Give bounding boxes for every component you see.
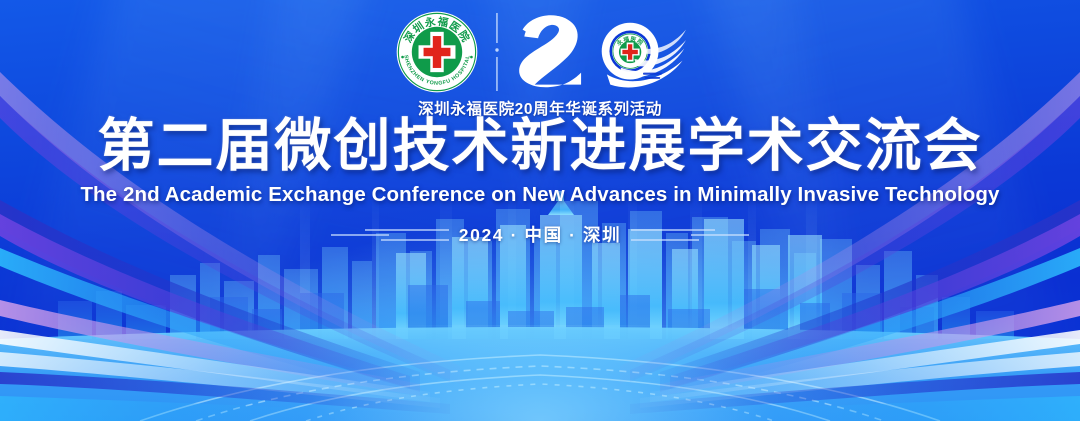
city-skyline (0, 189, 1080, 339)
anniversary-emblem: 永福医院 (514, 10, 686, 94)
decoration-lines-right (631, 225, 749, 245)
page-subtitle-en: The 2nd Academic Exchange Conference on … (0, 183, 1080, 207)
logo-row: 深圳永福医院 SHENZHEN YONGFU HOSPITAL (394, 10, 686, 94)
date-location-text: 2024 · 中国 · 深圳 (459, 222, 621, 247)
decoration-lines-left (331, 225, 449, 245)
conference-banner: 深圳永福医院 SHENZHEN YONGFU HOSPITAL (0, 0, 1080, 421)
page-title: 第二届微创技术新进展学术交流会 (0, 117, 1080, 177)
header-lockup: 深圳永福医院 SHENZHEN YONGFU HOSPITAL (0, 10, 1080, 119)
ground-plane (0, 325, 1080, 421)
date-location-strip: 2024 · 中国 · 深圳 (0, 222, 1080, 247)
divider-line (495, 13, 499, 91)
lockup-divider (480, 10, 514, 94)
hospital-logo: 深圳永福医院 SHENZHEN YONGFU HOSPITAL (394, 10, 480, 94)
